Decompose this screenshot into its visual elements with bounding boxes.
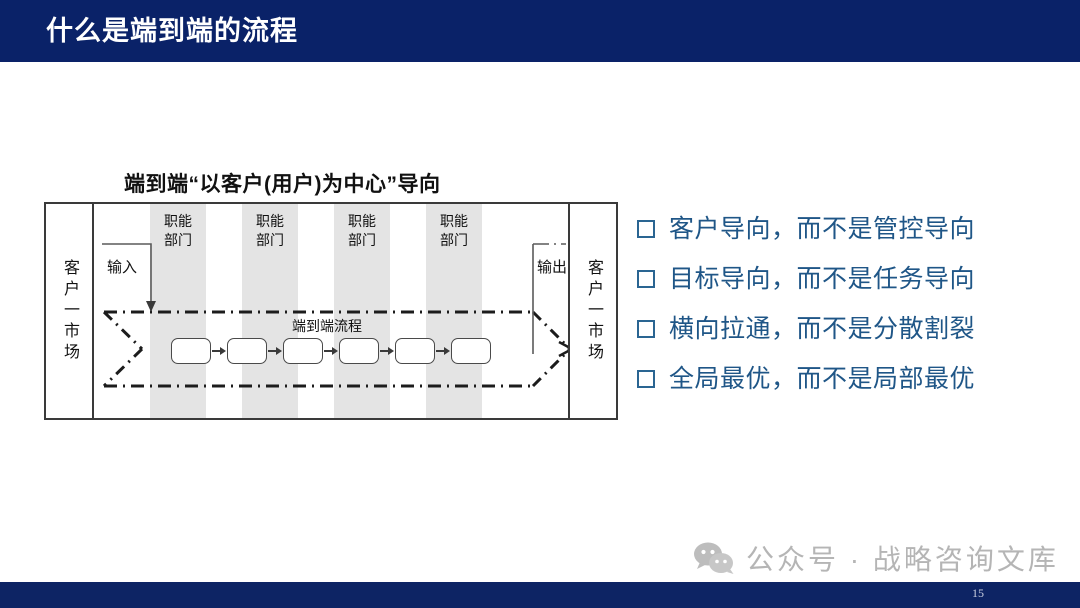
department-label-2: 职能 部门	[242, 212, 298, 250]
end-to-end-process-diagram: 职能 部门 职能 部门 职能 部门 职能 部门 输入 输出 端到端流程	[44, 202, 618, 420]
endpoint-box-right: 客户一市场	[568, 202, 618, 420]
endpoint-right-label: 客户一市场	[585, 259, 601, 364]
list-item: 客户导向，而不是管控导向	[637, 204, 1037, 254]
wechat-icon	[692, 541, 736, 575]
diagram-title: 端到端“以客户(用户)为中心”导向	[124, 168, 441, 198]
arrow-right-icon	[323, 345, 339, 357]
slide-footer-band	[0, 582, 1080, 608]
arrow-right-icon	[379, 345, 395, 357]
endpoint-box-left: 客户一市场	[44, 202, 94, 420]
checkbox-square-icon	[637, 370, 655, 388]
process-step-box	[451, 338, 491, 364]
process-step-box	[339, 338, 379, 364]
end-to-end-flow-label: 端到端流程	[292, 316, 362, 336]
department-label-4: 职能 部门	[426, 212, 482, 250]
page-number: 15	[958, 586, 998, 601]
arrow-right-icon	[435, 345, 451, 357]
page-title: 什么是端到端的流程	[46, 15, 298, 47]
io-leader-lines	[46, 204, 620, 422]
process-channel-outline	[46, 204, 620, 422]
checkbox-square-icon	[637, 270, 655, 288]
list-item-label: 横向拉通，而不是分散割裂	[669, 314, 975, 344]
department-label-1: 职能 部门	[150, 212, 206, 250]
list-item-label: 目标导向，而不是任务导向	[669, 264, 975, 294]
department-label-3: 职能 部门	[334, 212, 390, 250]
arrow-right-icon	[211, 345, 227, 357]
checkbox-square-icon	[637, 320, 655, 338]
list-item: 全局最优，而不是局部最优	[637, 354, 1037, 404]
output-label: 输出	[536, 256, 568, 277]
process-step-box	[171, 338, 211, 364]
watermark: 公众号 · 战略咨询文库	[692, 538, 1059, 578]
process-step-chain	[171, 338, 491, 364]
list-item-label: 全局最优，而不是局部最优	[669, 364, 975, 394]
watermark-label: 公众号 · 战略咨询文库	[746, 538, 1059, 578]
list-item: 横向拉通，而不是分散割裂	[637, 304, 1037, 354]
process-step-box	[395, 338, 435, 364]
process-step-box	[283, 338, 323, 364]
endpoint-left-label: 客户一市场	[61, 259, 77, 364]
process-step-box	[227, 338, 267, 364]
checkbox-square-icon	[637, 220, 655, 238]
input-label: 输入	[106, 256, 138, 277]
key-points-list: 客户导向，而不是管控导向 目标导向，而不是任务导向 横向拉通，而不是分散割裂 全…	[637, 204, 1037, 404]
arrow-right-icon	[267, 345, 283, 357]
list-item: 目标导向，而不是任务导向	[637, 254, 1037, 304]
list-item-label: 客户导向，而不是管控导向	[669, 214, 975, 244]
